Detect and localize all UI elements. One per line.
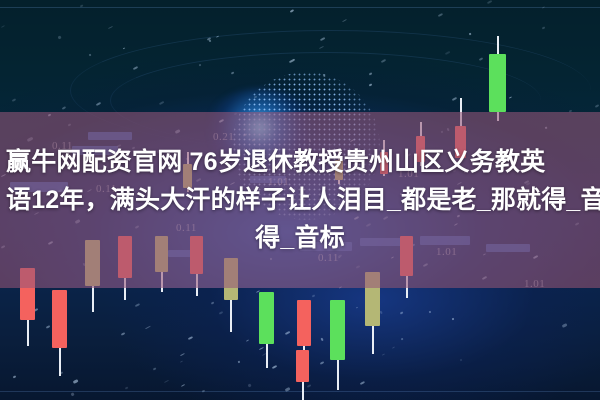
headline-line-1: 赢牛网配资官网 76岁退休教授贵州山区义务教英 <box>6 143 594 181</box>
headline-line-2: 语12年，满头大汗的样子让人泪目_都是老_那就得_音标 <box>6 181 594 219</box>
candlestick-body <box>330 300 345 360</box>
article-thumbnail: 0.110.210.111.011.010.111.011.010.11 赢牛网… <box>0 0 600 400</box>
candlestick-body <box>297 300 311 346</box>
headline-line-3: 得_音标 <box>6 219 594 257</box>
speckle <box>320 338 323 341</box>
candlestick-body <box>296 350 309 382</box>
candlestick-body <box>259 292 274 344</box>
candlestick <box>489 36 506 121</box>
candlestick <box>296 350 309 400</box>
candlestick <box>259 292 274 368</box>
candlestick <box>52 290 67 376</box>
frame-line-top <box>0 7 600 8</box>
speckle <box>368 72 371 75</box>
headline-text: 赢牛网配资官网 76岁退休教授贵州山区义务教英 语12年，满头大汗的样子让人泪目… <box>0 112 600 288</box>
candlestick-body <box>489 54 506 112</box>
candlestick-body <box>52 290 67 348</box>
candlestick <box>330 300 345 390</box>
